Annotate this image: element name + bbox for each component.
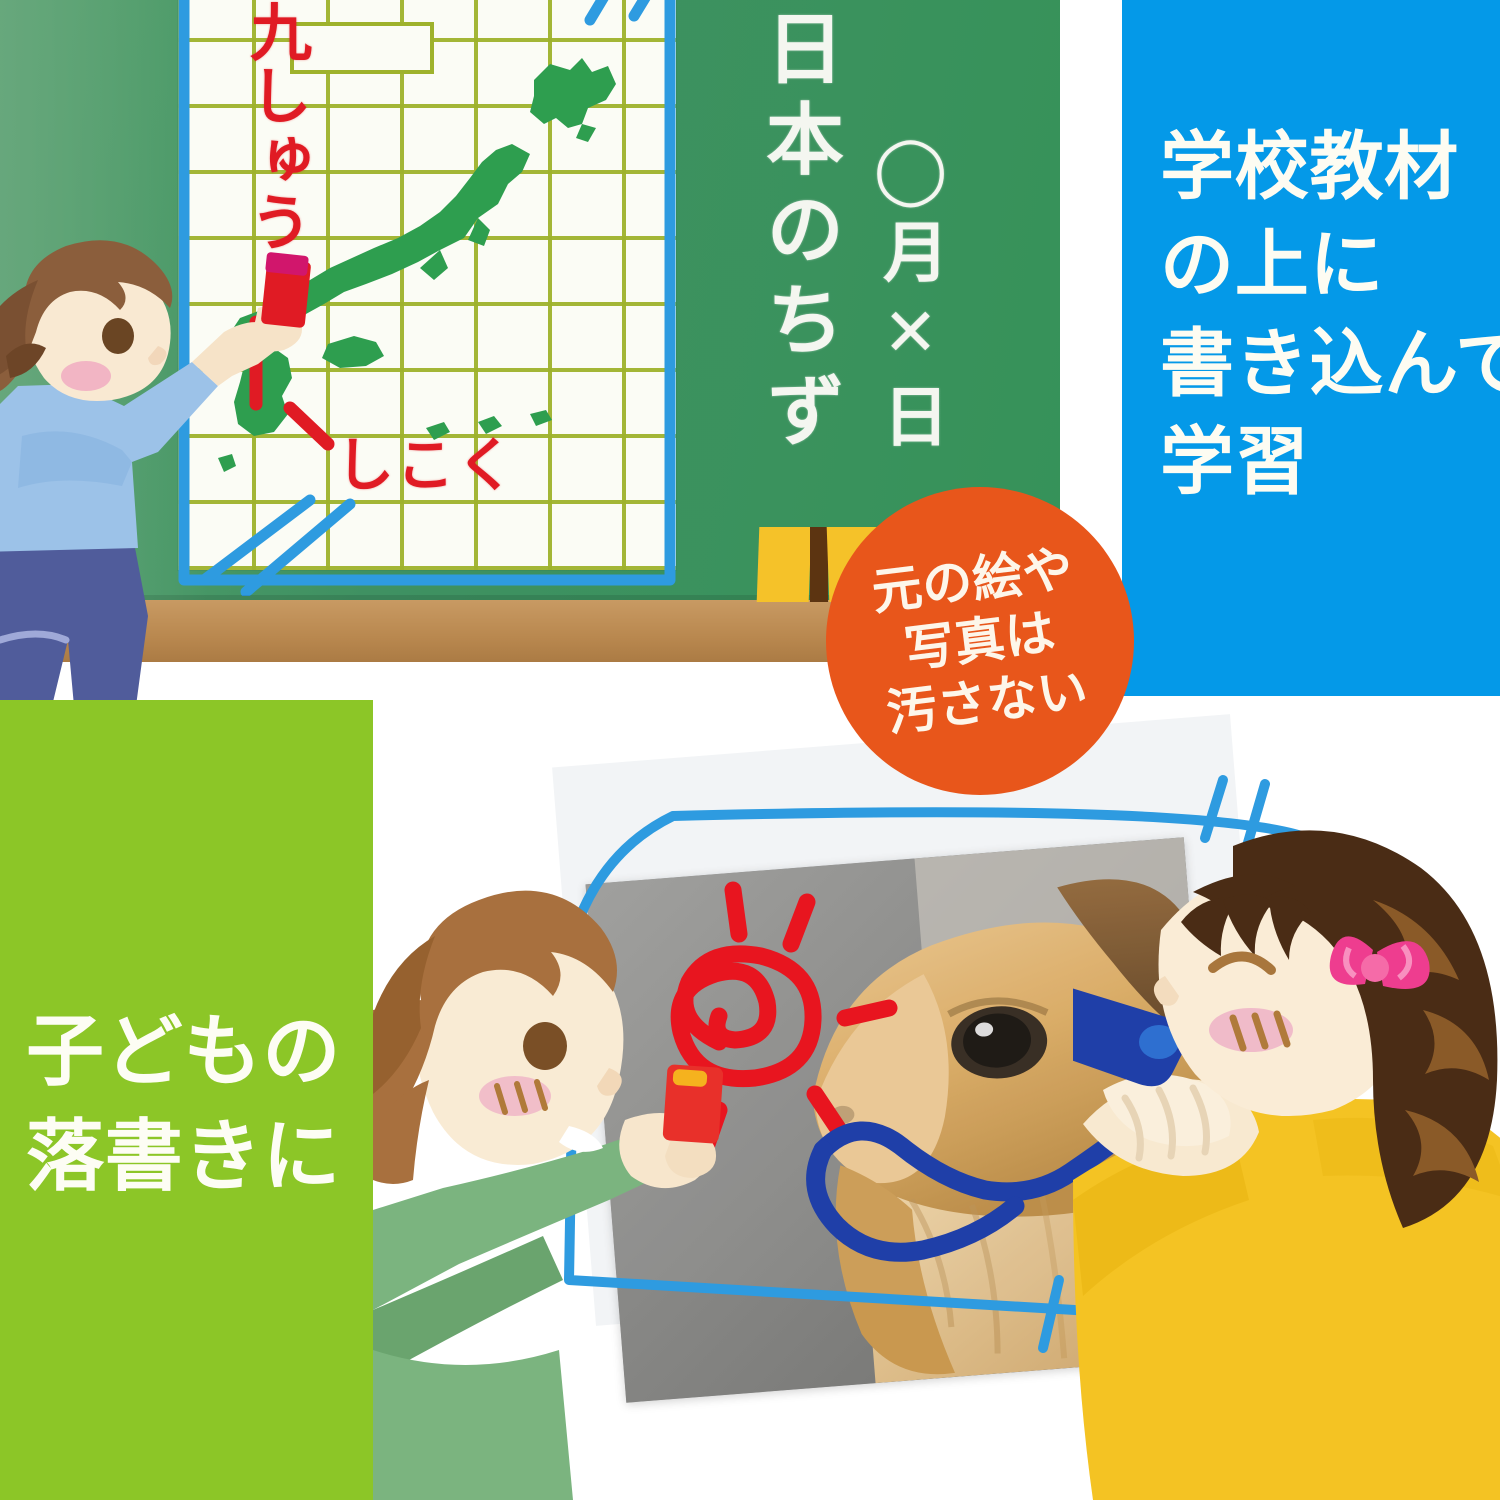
- kids-doodle-panel: 子どもの 落書きに: [0, 700, 373, 1500]
- chalkboard-title: 日本のちず: [742, 8, 854, 460]
- no-stain-badge: 元の絵や 写真は 汚さない: [826, 487, 1134, 795]
- no-stain-badge-text: 元の絵や 写真は 汚さない: [869, 538, 1092, 744]
- blue-line-3: 書き込んで: [1160, 315, 1490, 413]
- child-at-board: [0, 236, 312, 700]
- girl-yellow-shirt: [1073, 780, 1500, 1500]
- kids-doodle-text: 子どもの 落書きに: [26, 1000, 366, 1211]
- school-materials-text: 学校教材 の上に 書き込んで 学習: [1160, 118, 1490, 512]
- green-line-2: 落書きに: [26, 1105, 366, 1210]
- school-materials-panel: 学校教材 の上に 書き込んで 学習: [1122, 0, 1500, 696]
- blue-line-1: 学校教材: [1160, 118, 1490, 216]
- chalkboard-date: ◯月✕日: [862, 130, 958, 458]
- boy-green-shirt: [373, 880, 733, 1500]
- blue-line-2: の上に: [1160, 216, 1490, 314]
- photo-doodle-scene: [373, 700, 1500, 1500]
- infographic-root: 日本のちず ◯月✕日: [0, 0, 1500, 1500]
- blue-line-4: 学習: [1160, 413, 1490, 511]
- green-line-1: 子どもの: [26, 1000, 366, 1105]
